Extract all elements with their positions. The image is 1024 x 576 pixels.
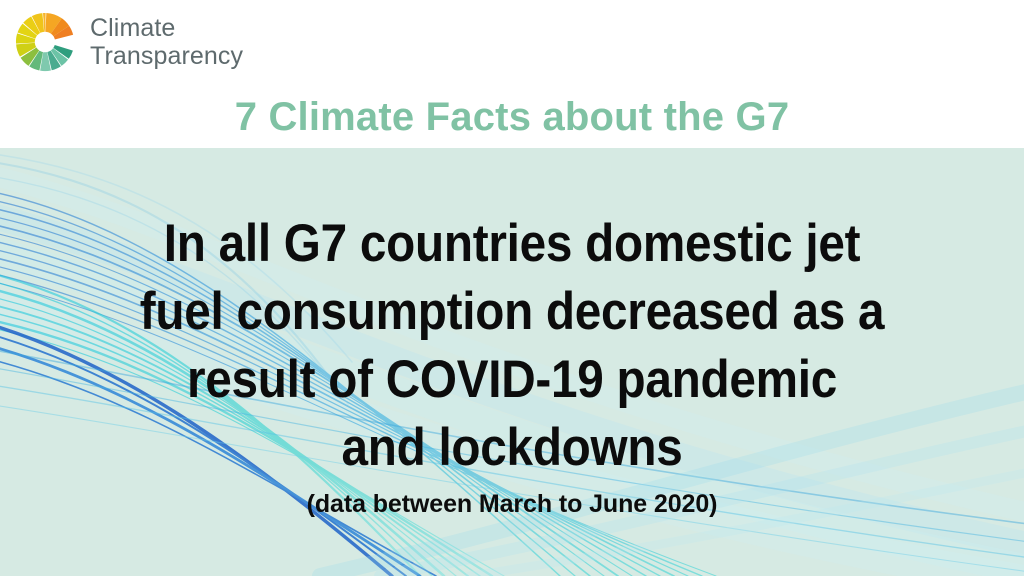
headline-line-3: result of COVID-19 pandemic	[51, 346, 973, 414]
brand-wordmark-line2: Transparency	[90, 42, 243, 70]
brand-logo-lockup[interactable]: Climate Transparency	[12, 9, 243, 75]
climate-transparency-colorwheel-icon	[12, 9, 78, 75]
brand-wordmark: Climate Transparency	[90, 14, 243, 70]
headline-line-4: and lockdowns	[51, 414, 973, 482]
headline-line-2: fuel consumption decreased as a	[51, 278, 973, 346]
data-period-note: (data between March to June 2020)	[0, 489, 1024, 519]
slide-title: 7 Climate Facts about the G7	[0, 94, 1024, 140]
slide-canvas: Climate Transparency 7 Climate Facts abo…	[0, 0, 1024, 576]
headline-text: In all G7 countries domestic jet fuel co…	[51, 210, 973, 482]
brand-wordmark-line1: Climate	[90, 14, 243, 42]
headline-block: In all G7 countries domestic jet fuel co…	[0, 210, 1024, 482]
headline-line-1: In all G7 countries domestic jet	[51, 210, 973, 278]
